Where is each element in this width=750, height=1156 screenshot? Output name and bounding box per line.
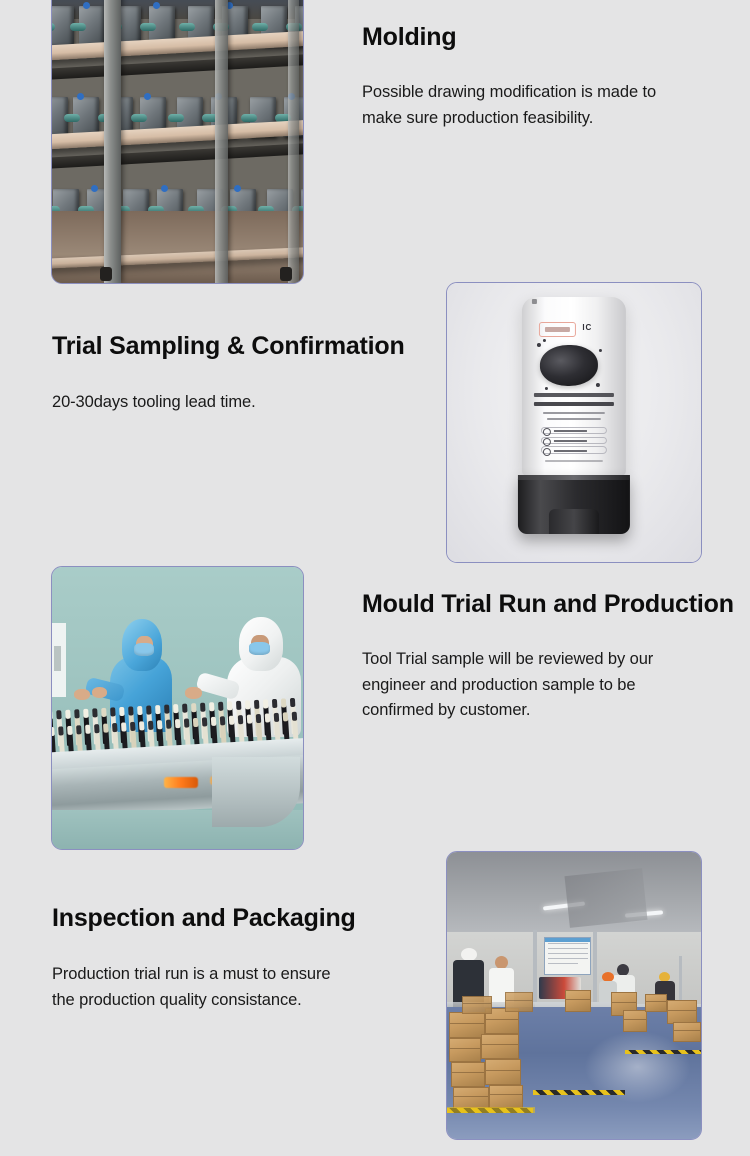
section-inspection-packaging: Inspection and Packaging Production tria… <box>52 903 422 1013</box>
trial-sampling-body-line-1: 20-30days tooling lead time. <box>52 390 412 416</box>
mold-racks-photo <box>51 0 304 284</box>
cleanroom-line-photo <box>51 566 304 850</box>
inspection-body-line-1: Production trial run is a must to ensure <box>52 962 422 988</box>
mould-trial-body-line-3: confirmed by customer. <box>362 698 732 724</box>
product-tube: IC <box>522 297 626 534</box>
carton <box>451 1062 485 1087</box>
molding-body-line-2: make sure production feasibility. <box>362 106 722 132</box>
tube-badge-code: IC <box>582 323 592 332</box>
inspection-body-line-2: the production quality consistance. <box>52 988 422 1014</box>
tube-claim-2 <box>541 437 608 445</box>
molding-heading: Molding <box>362 22 722 52</box>
carton <box>449 1038 481 1062</box>
charcoal-graphic <box>540 345 598 386</box>
mould-trial-body: Tool Trial sample will be reviewed by ou… <box>362 647 732 724</box>
tube-volume <box>545 460 603 462</box>
carton <box>645 994 667 1012</box>
tube-claim-3 <box>541 446 608 454</box>
section-molding: Molding Possible drawing modification is… <box>362 22 722 131</box>
tube-cap <box>518 475 630 534</box>
whiteboard <box>544 937 591 975</box>
section-mould-trial-run: Mould Trial Run and Production Tool Tria… <box>362 589 732 724</box>
carton <box>565 990 591 1012</box>
carton <box>489 1085 523 1108</box>
mould-trial-heading: Mould Trial Run and Production <box>362 589 732 619</box>
carton <box>623 1010 647 1032</box>
inspection-body: Production trial run is a must to ensure… <box>52 962 422 1013</box>
tube-name-line-1 <box>534 393 613 397</box>
tube-tagline-line-1 <box>543 412 605 414</box>
carton <box>449 1012 485 1038</box>
molding-body: Possible drawing modification is made to… <box>362 80 722 131</box>
molding-body-line-1: Possible drawing modification is made to <box>362 80 722 106</box>
tube-name-line-2 <box>534 402 613 406</box>
mould-trial-body-line-2: engineer and production sample to be <box>362 673 732 699</box>
tube-badge <box>539 322 576 337</box>
inspection-heading: Inspection and Packaging <box>52 903 422 933</box>
carton <box>505 992 533 1012</box>
tube-tagline-line-2 <box>547 418 601 420</box>
process-steps-page: Molding Possible drawing modification is… <box>0 0 750 1156</box>
section-trial-sampling: Trial Sampling & Confirmation 20-30days … <box>52 331 412 416</box>
trial-sampling-body: 20-30days tooling lead time. <box>52 390 412 416</box>
tube-claim-1 <box>541 427 608 435</box>
trial-sampling-heading: Trial Sampling & Confirmation <box>52 331 412 361</box>
carton <box>667 1000 697 1024</box>
mould-trial-body-line-1: Tool Trial sample will be reviewed by ou… <box>362 647 732 673</box>
carton <box>673 1022 701 1042</box>
carton <box>453 1087 489 1109</box>
carton <box>481 1034 519 1059</box>
carton <box>462 996 492 1014</box>
carton <box>485 1059 521 1085</box>
packing-warehouse-photo <box>446 851 702 1140</box>
cosmetic-tube-photo: IC <box>446 282 702 563</box>
